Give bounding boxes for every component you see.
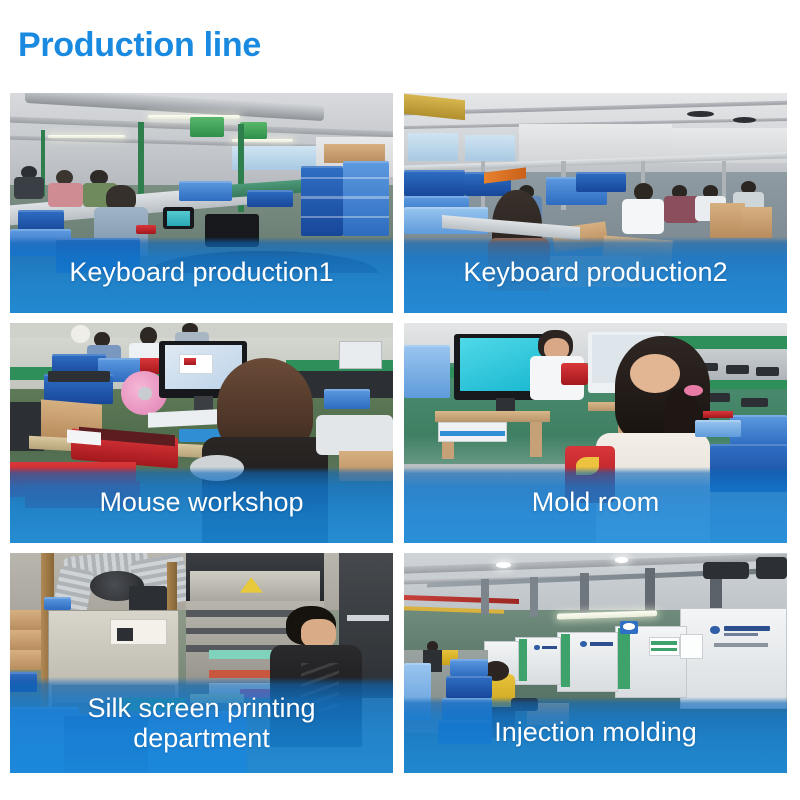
gallery-item-mouse-workshop[interactable]: Mouse workshop — [10, 323, 393, 543]
gallery-item-keyboard-production-1[interactable]: Keyboard production1 — [10, 93, 393, 313]
gallery-item-keyboard-production-2[interactable]: Keyboard production2 — [404, 93, 787, 313]
gallery-item-injection-molding[interactable]: Injection molding — [404, 553, 787, 773]
page-title: Production line — [18, 28, 261, 62]
gallery-item-silk-screen-printing-department[interactable]: Silk screen printing department — [10, 553, 393, 773]
caption-keyboard-production-1: Keyboard production1 — [10, 237, 393, 313]
production-line-gallery: Keyboard production1 — [10, 93, 790, 774]
gallery-item-mold-room[interactable]: Mold room — [404, 323, 787, 543]
caption-silk-screen-printing-department: Silk screen printing department — [10, 677, 393, 773]
caption-injection-molding: Injection molding — [404, 697, 787, 773]
caption-mouse-workshop: Mouse workshop — [10, 467, 393, 543]
caption-mold-room: Mold room — [404, 467, 787, 543]
production-line-page: Production line — [0, 0, 800, 800]
caption-keyboard-production-2: Keyboard production2 — [404, 237, 787, 313]
